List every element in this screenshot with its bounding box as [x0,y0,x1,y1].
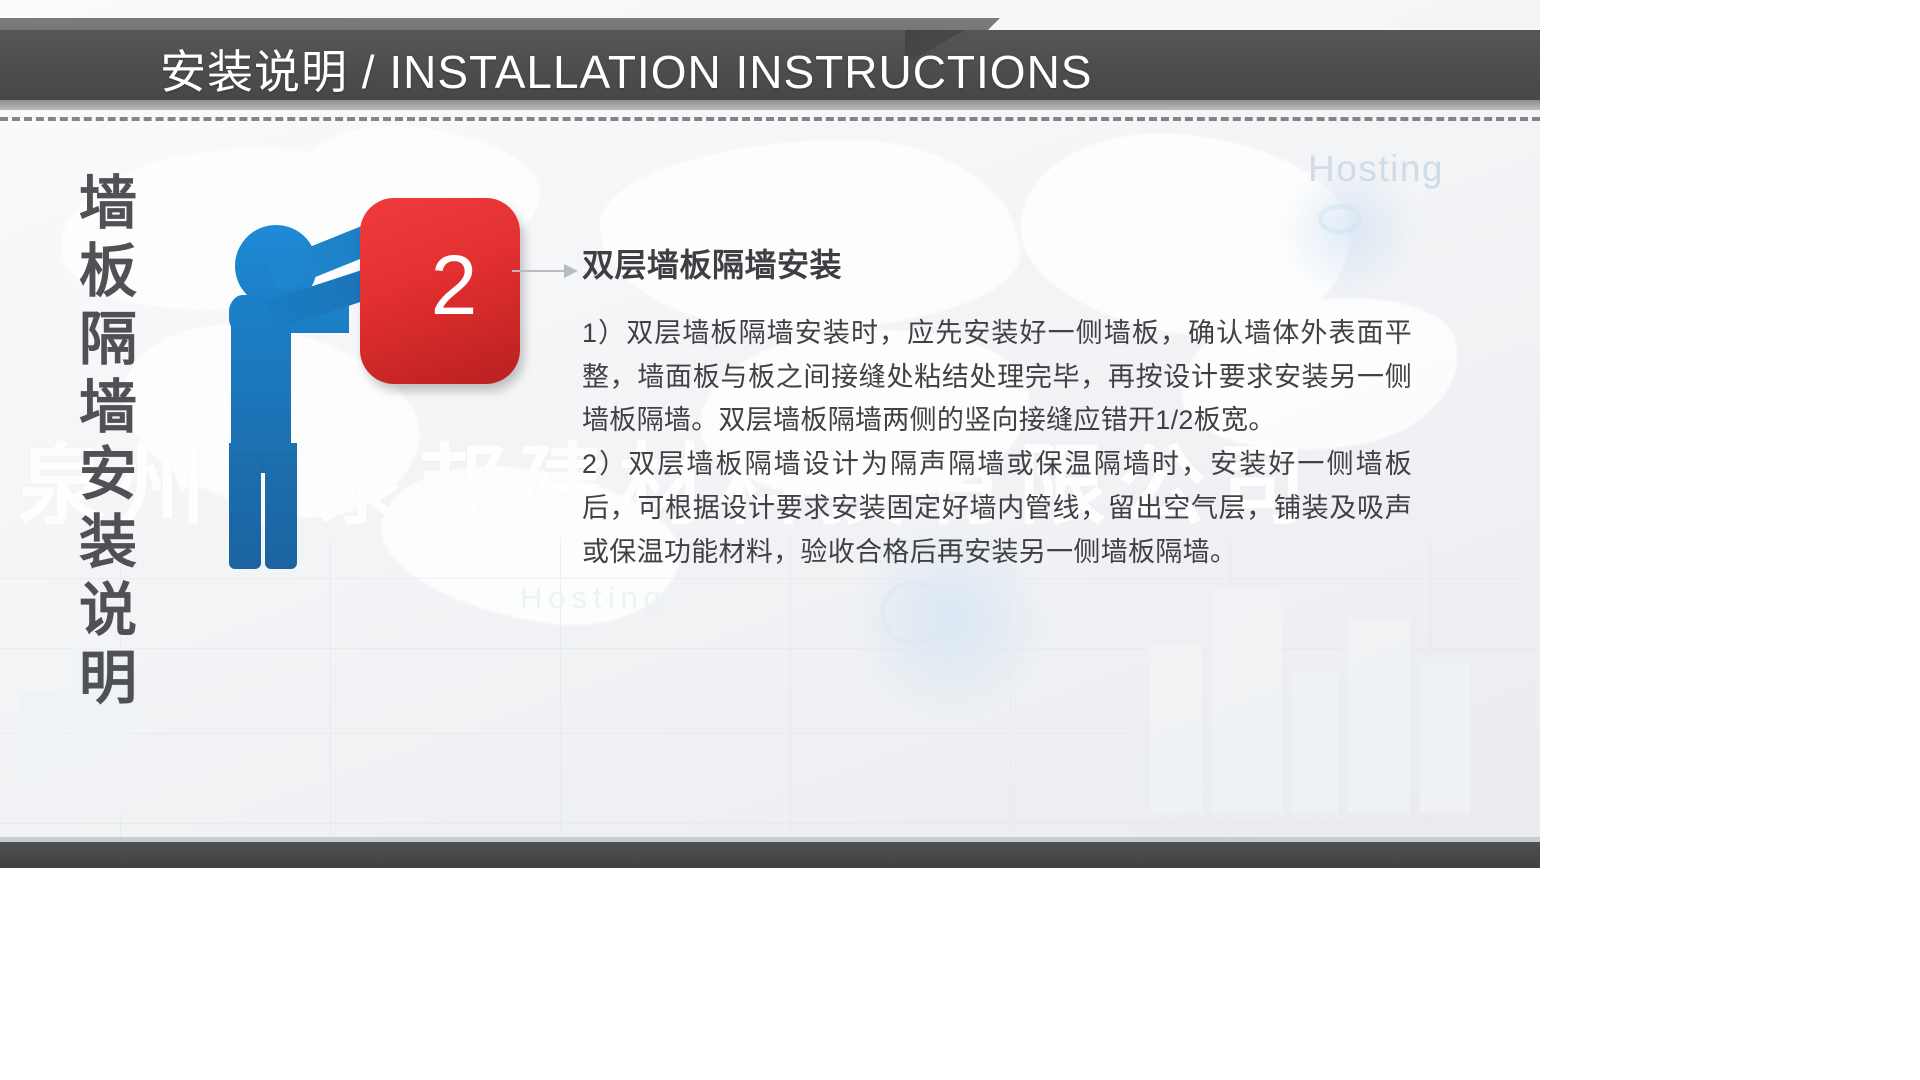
figure-leg-left [229,451,261,569]
building-shape [1150,643,1202,813]
ring-icon [880,580,946,646]
ring-icon [1318,204,1362,234]
vertical-title-char: 明 [62,645,154,713]
step-number: 2 [431,243,478,327]
vertical-title-char: 说 [62,577,154,645]
step-badge: 2 [360,198,520,384]
page-footer [0,842,1540,868]
content-body: 1）双层墙板隔墙安装时，应先安装好一侧墙板，确认墙体外表面平整，墙面板与板之间接… [582,312,1412,574]
page-title: 安装说明 / INSTALLATION INSTRUCTIONS [160,30,1092,108]
slide-canvas: 泉州市泉邦建材科技有限公司 Hosting 安装说明 / INSTALLATIO… [0,0,1540,868]
hosting-label: Hosting [1308,148,1444,190]
vertical-title-char: 板 [62,238,154,306]
vertical-title-char: 安 [62,441,154,509]
building-shape [1348,618,1410,813]
building-shape [20,693,64,813]
arrow-shaft [512,270,567,272]
arrow-head [564,264,578,278]
content-paragraph: 2）双层墙板隔墙设计为隔声隔墙或保温隔墙时，安装好一侧墙板后，可根据设计要求安装… [582,443,1412,574]
arrow-right-icon [512,262,582,280]
figure-leg-right [265,451,297,569]
vertical-title-char: 墙 [62,374,154,442]
vertical-title-char: 装 [62,509,154,577]
secondary-watermark: Hosting [520,580,667,616]
vertical-title-char: 隔 [62,306,154,374]
content-block: 双层墙板隔墙安装 1）双层墙板隔墙安装时，应先安装好一侧墙板，确认墙体外表面平整… [582,240,1412,574]
page-header: 安装说明 / INSTALLATION INSTRUCTIONS [0,0,1540,112]
dashed-divider [0,117,1540,121]
building-shape [1292,673,1338,813]
building-shape [1212,588,1282,813]
perspective-grid [0,538,1540,868]
vertical-section-title: 墙 板 隔 墙 安 装 说 明 [62,170,154,713]
content-paragraph: 1）双层墙板隔墙安装时，应先安装好一侧墙板，确认墙体外表面平整，墙面板与板之间接… [582,312,1412,443]
building-shape [1420,663,1470,813]
content-heading: 双层墙板隔墙安装 [582,240,1412,286]
vertical-title-char: 墙 [62,170,154,238]
